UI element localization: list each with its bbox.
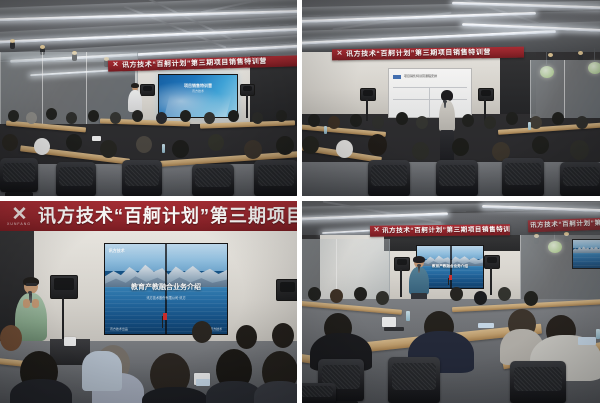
attendee-head: [2, 134, 18, 151]
slide-title: 教育产教融合业务介绍: [112, 282, 219, 292]
attendee-head: [276, 136, 294, 155]
speaker-stand: [400, 269, 402, 297]
slide-subtitle: 讯方技术股份有限公司·讯方: [127, 296, 205, 300]
office-chair: [510, 361, 566, 403]
attendee-head: [236, 325, 257, 349]
handout-paper: [382, 317, 396, 327]
attendee-head: [26, 112, 37, 124]
office-chair: [192, 164, 234, 196]
attendee-head: [524, 291, 538, 306]
attendee-head: [506, 112, 518, 125]
collage-panel-top-right: ✕ 讯方技术“百舸计划”第三期项目销售特训营 项目销售特训营课程安排: [302, 0, 600, 196]
handout-paper-blue: [578, 337, 596, 345]
speaker-stand: [366, 99, 368, 121]
attendee-head: [484, 116, 496, 129]
presenter-hand: [32, 299, 39, 308]
slide-title: 项目销售特训营课程安排: [404, 74, 467, 78]
attendee-head: [100, 140, 117, 158]
presenter-hair: [131, 83, 139, 88]
attendee-head: [46, 108, 57, 120]
xunfang-logo: ✕: [370, 228, 382, 234]
attendee-head: [372, 116, 384, 129]
xunfang-logo-mark: ✕: [12, 206, 27, 223]
water-bottle: [596, 329, 600, 339]
event-banner: ✕ 讯方技术“百舸计划”第三期项目销售特训营: [370, 224, 510, 236]
attendee-body: [254, 381, 297, 403]
handheld-microphone: [418, 266, 420, 273]
attendee-head: [376, 291, 389, 305]
slide-accent-chip: [393, 75, 401, 79]
attendee-body: [10, 379, 72, 403]
collage-panel-top-left: ✕ 讯方技术“百舸计划”第三期项目销售特训营 项目销售特训营 讯方技术: [0, 0, 297, 196]
attendee-head: [136, 136, 152, 153]
handout-paper-blue: [196, 379, 210, 386]
attendee-body: [142, 387, 208, 403]
slide-subtitle: 讯方技术: [175, 89, 222, 93]
handout-paper: [92, 136, 101, 141]
attendee-head: [498, 287, 511, 301]
banner-text: 讯方技术“百舸计划”第三期项目销: [38, 201, 297, 231]
handout-paper-blue: [478, 323, 494, 328]
attendee-head: [252, 112, 263, 124]
attendee-head: [308, 287, 321, 301]
attendee-shirt-light: [82, 351, 122, 391]
pa-speaker: [478, 88, 494, 101]
attendee-head: [66, 134, 82, 151]
water-bottle: [406, 311, 410, 321]
office-chair: [122, 160, 162, 196]
attendee-head: [412, 142, 429, 160]
attendee-head: [308, 114, 320, 127]
banner-text-secondary: 讯方技术“百舸计划”第三期项目销: [528, 218, 600, 233]
event-banner: ✕ XUNFANG 讯方技术“百舸计划”第三期项目销: [0, 201, 297, 231]
office-chair: [302, 383, 336, 403]
attendee-head: [180, 110, 191, 122]
photo-collage: ✕ 讯方技术“百舸计划”第三期项目销售特训营 项目销售特训营 讯方技术: [0, 0, 600, 403]
attendee-head: [34, 138, 50, 155]
banner-text: 讯方技术“百舸计划”第三期项目销售特训营: [382, 224, 510, 236]
attendee-head: [452, 138, 469, 156]
attendee-head: [328, 116, 340, 129]
pa-speaker: [50, 275, 78, 299]
attendee-head: [368, 134, 387, 156]
track-spotlight: [10, 42, 15, 49]
attendee-head: [244, 140, 262, 159]
attendee-head: [450, 287, 463, 301]
attendee-head: [172, 140, 189, 158]
scene-training-room-wide: ✕ 讯方技术“百舸计划”第三期项目销售特训营 项目销售特训营 讯方技术: [0, 0, 297, 196]
pa-speaker: [276, 279, 297, 301]
presenter-hair: [413, 256, 425, 263]
scene-presenter-video-wall: ✕ XUNFANG 讯方技术“百舸计划”第三期项目销 讯方技术 教育产教融合业务…: [0, 201, 297, 403]
xunfang-logo-mark: ✕: [374, 228, 379, 234]
slide-logo: 讯方技术: [109, 248, 125, 254]
video-wall-screen: 讯方技术 教育产教融合业务介绍 讯方技术股份有限公司·讯方 讯方技术出品 讯方技…: [104, 243, 228, 335]
attendee-head: [156, 112, 167, 124]
glass-partition: [530, 60, 600, 118]
pa-speaker: [360, 88, 376, 101]
slide-lake: [573, 253, 600, 268]
video-wall-screen-secondary: [572, 239, 600, 269]
attendee-head: [228, 110, 239, 122]
office-chair: [388, 357, 440, 403]
attendee-head: [416, 116, 428, 129]
attendee-head: [552, 112, 564, 125]
office-chair: [56, 162, 96, 196]
laptop: [384, 327, 404, 331]
glass-mullion: [564, 60, 565, 118]
attendee-head: [208, 134, 224, 151]
projection-screen: 项目销售特训营课程安排: [388, 68, 472, 118]
slide-footer-left: 讯方技术出品: [110, 327, 128, 331]
pa-speaker: [484, 255, 500, 269]
xunfang-logo-mark: ✕: [113, 63, 118, 69]
water-bottle: [162, 144, 165, 153]
event-banner-secondary: 讯方技术“百舸计划”第三期项目销: [528, 218, 600, 233]
xunfang-logo-name: XUNFANG: [7, 223, 31, 227]
attendee-head: [474, 291, 487, 305]
attendee-head: [192, 321, 212, 343]
attendee-head: [330, 289, 343, 303]
office-chair: [502, 158, 544, 196]
xunfang-logo: ✕ XUNFANG: [0, 206, 38, 227]
handheld-microphone: [444, 102, 446, 108]
speaker-stand: [490, 267, 492, 295]
xunfang-logo-mark: ✕: [337, 52, 342, 58]
xunfang-logo: ✕: [108, 63, 122, 70]
slide-flag: [163, 313, 167, 320]
presenter-upper-body: [439, 100, 455, 132]
attendee-head: [396, 112, 408, 125]
xunfang-logo: ✕: [332, 51, 346, 57]
attendee-head: [336, 140, 353, 158]
attendee-head: [576, 116, 588, 129]
attendee-head: [8, 110, 19, 122]
presenter-hand: [23, 299, 30, 308]
presenter-glasses: [26, 283, 37, 286]
attendee-head: [272, 323, 294, 348]
office-chair: [560, 162, 600, 196]
slide-title: 项目销售特训营: [164, 83, 233, 89]
attendee-head: [0, 325, 22, 351]
attendee-head: [354, 287, 367, 301]
scene-room-wide-attendees: ✕ 讯方技术“百舸计划”第三期项目销售特训营 讯方技术“百舸计划”第三期项目销 …: [302, 201, 600, 403]
attendee-head: [462, 114, 474, 127]
collage-panel-bottom-left: ✕ XUNFANG 讯方技术“百舸计划”第三期项目销 讯方技术 教育产教融合业务…: [0, 201, 297, 403]
attendee-head: [204, 112, 215, 124]
water-bottle: [528, 122, 531, 130]
attendee-head: [110, 112, 121, 124]
attendee-head: [132, 110, 143, 122]
slide-flag: [449, 275, 452, 280]
attendee-head: [532, 136, 549, 154]
attendee-head: [302, 136, 319, 154]
attendee-head: [276, 110, 287, 122]
handout-paper: [64, 337, 76, 346]
attendee-head: [570, 140, 589, 160]
collage-panel-bottom-right: ✕ 讯方技术“百舸计划”第三期项目销售特训营 讯方技术“百舸计划”第三期项目销 …: [302, 201, 600, 403]
attendee-head: [66, 112, 77, 124]
office-chair: [436, 160, 478, 196]
water-bottle: [324, 126, 327, 134]
attendee-head: [530, 116, 542, 129]
office-chair: [254, 160, 297, 196]
office-chair: [0, 158, 38, 192]
office-chair: [368, 160, 410, 196]
attendee-head: [350, 114, 362, 127]
attendee-head: [88, 110, 99, 122]
scene-female-presenter: ✕ 讯方技术“百舸计划”第三期项目销售特训营 项目销售特训营课程安排: [302, 0, 600, 196]
